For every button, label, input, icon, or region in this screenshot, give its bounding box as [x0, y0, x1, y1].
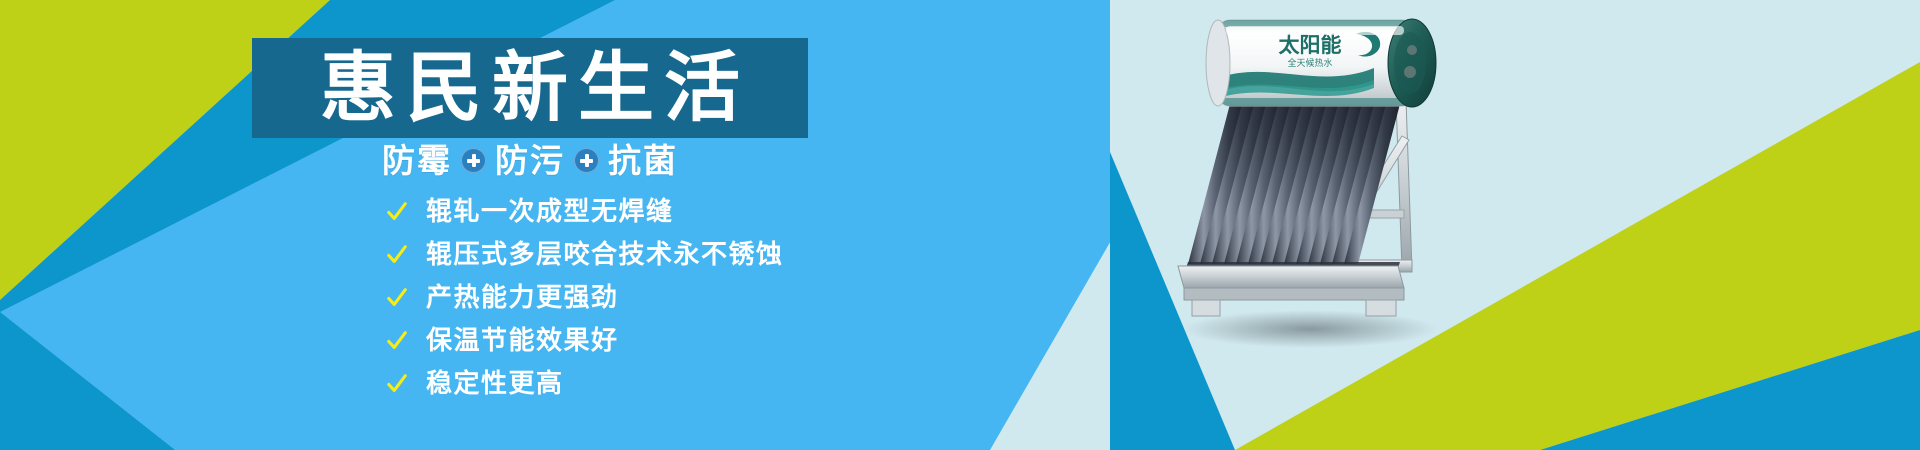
- plus-icon: [461, 148, 486, 173]
- feature-list: 辊轧一次成型无焊缝 辊压式多层咬合技术永不锈蚀 产热能力更强劲 保温节能效果好: [386, 194, 784, 401]
- check-icon: [386, 330, 408, 352]
- subtitle-word-1: 防霉: [382, 144, 452, 177]
- tank-brand-text: 太阳能: [1279, 33, 1342, 57]
- promo-banner: 惠民新生活 防霉 防污 抗菌 辊轧一次成型无焊缝 辊压式多层咬合技术永不锈蚀 产…: [0, 0, 1920, 450]
- plus-icon: [574, 148, 599, 173]
- list-item: 辊压式多层咬合技术永不锈蚀: [386, 237, 784, 272]
- check-icon: [386, 201, 408, 223]
- feature-label: 稳定性更高: [426, 371, 564, 397]
- check-icon: [386, 244, 408, 266]
- list-item: 产热能力更强劲: [386, 280, 784, 315]
- page-title: 惠民新生活: [310, 50, 750, 126]
- feature-label: 辊压式多层咬合技术永不锈蚀: [426, 242, 784, 268]
- subtitle-word-2: 防污: [495, 144, 565, 177]
- check-icon: [386, 373, 408, 395]
- check-icon: [386, 287, 408, 309]
- feature-label: 产热能力更强劲: [426, 285, 619, 311]
- title-panel: 惠民新生活: [252, 38, 808, 138]
- tank-sub-text: 全天候热水: [1287, 57, 1332, 69]
- bottom-rail: [1178, 266, 1404, 316]
- list-item: 保温节能效果好: [386, 323, 784, 358]
- subtitle-word-3: 抗菌: [608, 144, 678, 177]
- feature-label: 辊轧一次成型无焊缝: [426, 199, 674, 225]
- subtitle-row: 防霉 防污 抗菌: [252, 144, 808, 177]
- product-image-solar-water-heater: 太阳能 全天候热水: [1160, 4, 1490, 349]
- storage-tank: 太阳能 全天候热水: [1206, 19, 1436, 107]
- list-item: 辊轧一次成型无焊缝: [386, 194, 784, 229]
- evacuated-tube-array: [1184, 104, 1400, 274]
- list-item: 稳定性更高: [386, 366, 784, 401]
- feature-label: 保温节能效果好: [426, 328, 619, 354]
